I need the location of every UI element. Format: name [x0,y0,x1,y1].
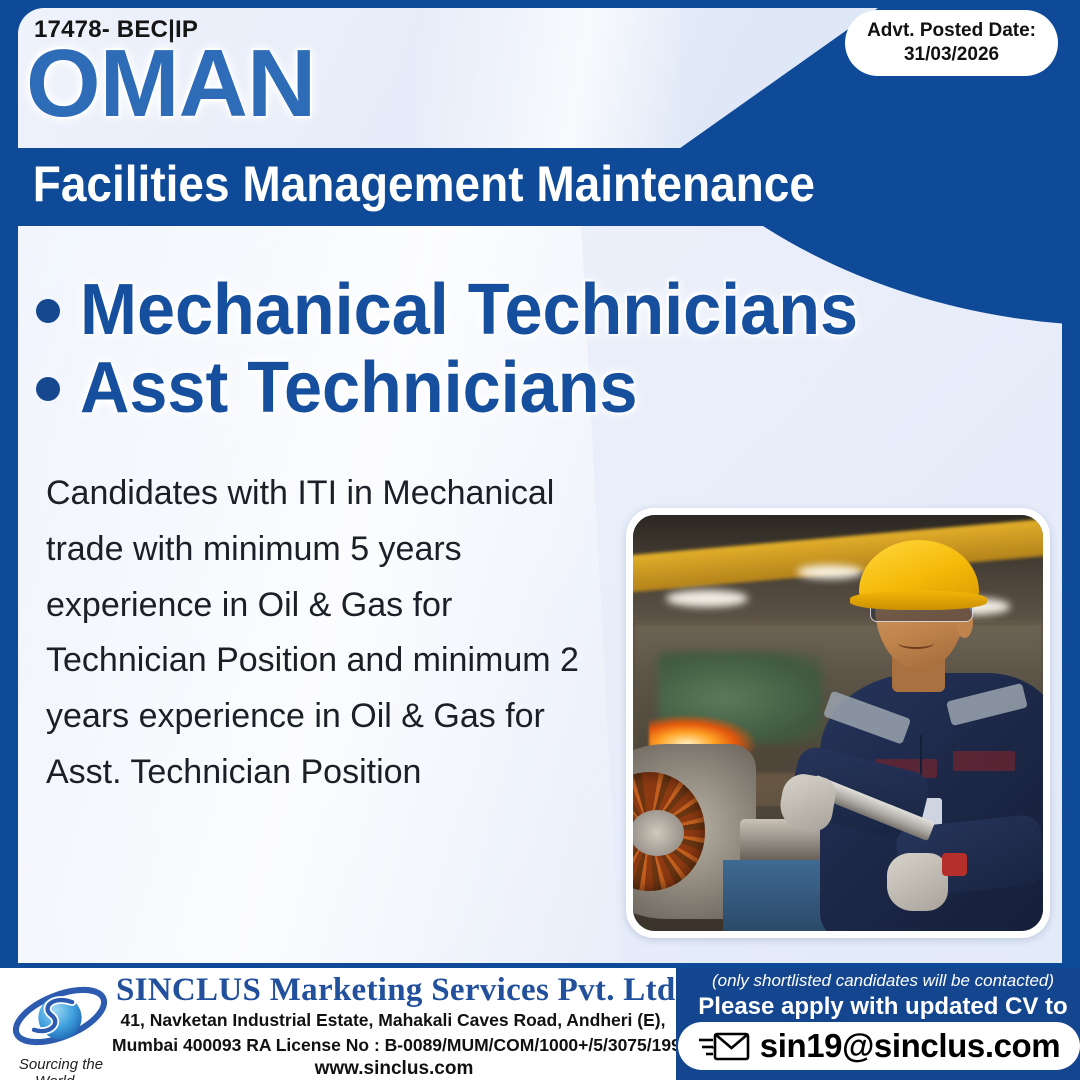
apply-email: sin19@sinclus.com [760,1027,1061,1065]
technician-photo [626,508,1050,938]
photo-rotor-hub [633,810,684,855]
poster-header: 17478- BEC|IP OMAN Advt. Posted Date: 31… [0,0,1080,228]
logo-tagline: Sourcing the World... [2,1056,120,1080]
sector-title: Facilities Management Maintenance [18,159,815,209]
posted-date-badge: Advt. Posted Date: 31/03/2026 [845,10,1058,76]
posted-date-label: Advt. Posted Date: [867,19,1036,43]
company-website[interactable]: www.sinclus.com [116,1058,672,1080]
hard-hat-brim [850,591,987,611]
envelope-icon [698,1029,750,1063]
apply-instruction: Please apply with updated CV to [686,993,1080,1021]
job-title: Asst Technicians [80,350,638,428]
photo-worker [781,540,1043,931]
photo-lamp [666,590,748,607]
eligibility-description: Candidates with ITI in Mechanical trade … [46,466,621,801]
job-title: Mechanical Technicians [80,272,858,350]
footer-apply-block: (only shortlisted candidates will be con… [676,968,1080,1080]
footer-company-block: Sourcing the World... SINCLUS Marketing … [0,968,676,1080]
country-title: OMAN [26,36,315,132]
company-address-line-2: Mumbai 400093 RA License No : B-0089/MUM… [112,1035,674,1056]
shortlist-note: (only shortlisted candidates will be con… [686,971,1080,991]
photo-image [633,515,1043,931]
poster-footer: Sourcing the World... SINCLUS Marketing … [0,968,1080,1080]
photo-glove [887,853,948,912]
email-pill[interactable]: sin19@sinclus.com [678,1022,1080,1070]
poster-body: Mechanical Technicians Asst Technicians … [18,226,1062,963]
company-address-line-1: 41, Navketan Industrial Estate, Mahakali… [112,1010,674,1031]
bullet-icon [36,299,60,323]
photo-wristwatch [942,853,967,876]
photo-pocket [953,751,1014,771]
sector-band: Facilities Management Maintenance [18,148,1062,220]
company-name: SINCLUS Marketing Services Pvt. Ltd. [116,972,672,1009]
list-item: Mechanical Technicians [36,272,899,350]
sinclus-logo-icon [8,976,112,1056]
bullet-icon [36,377,60,401]
advertisement-poster: 17478- BEC|IP OMAN Advt. Posted Date: 31… [0,0,1080,1080]
posted-date-value: 31/03/2026 [867,43,1036,67]
job-list: Mechanical Technicians Asst Technicians [36,272,899,428]
list-item: Asst Technicians [36,350,899,428]
